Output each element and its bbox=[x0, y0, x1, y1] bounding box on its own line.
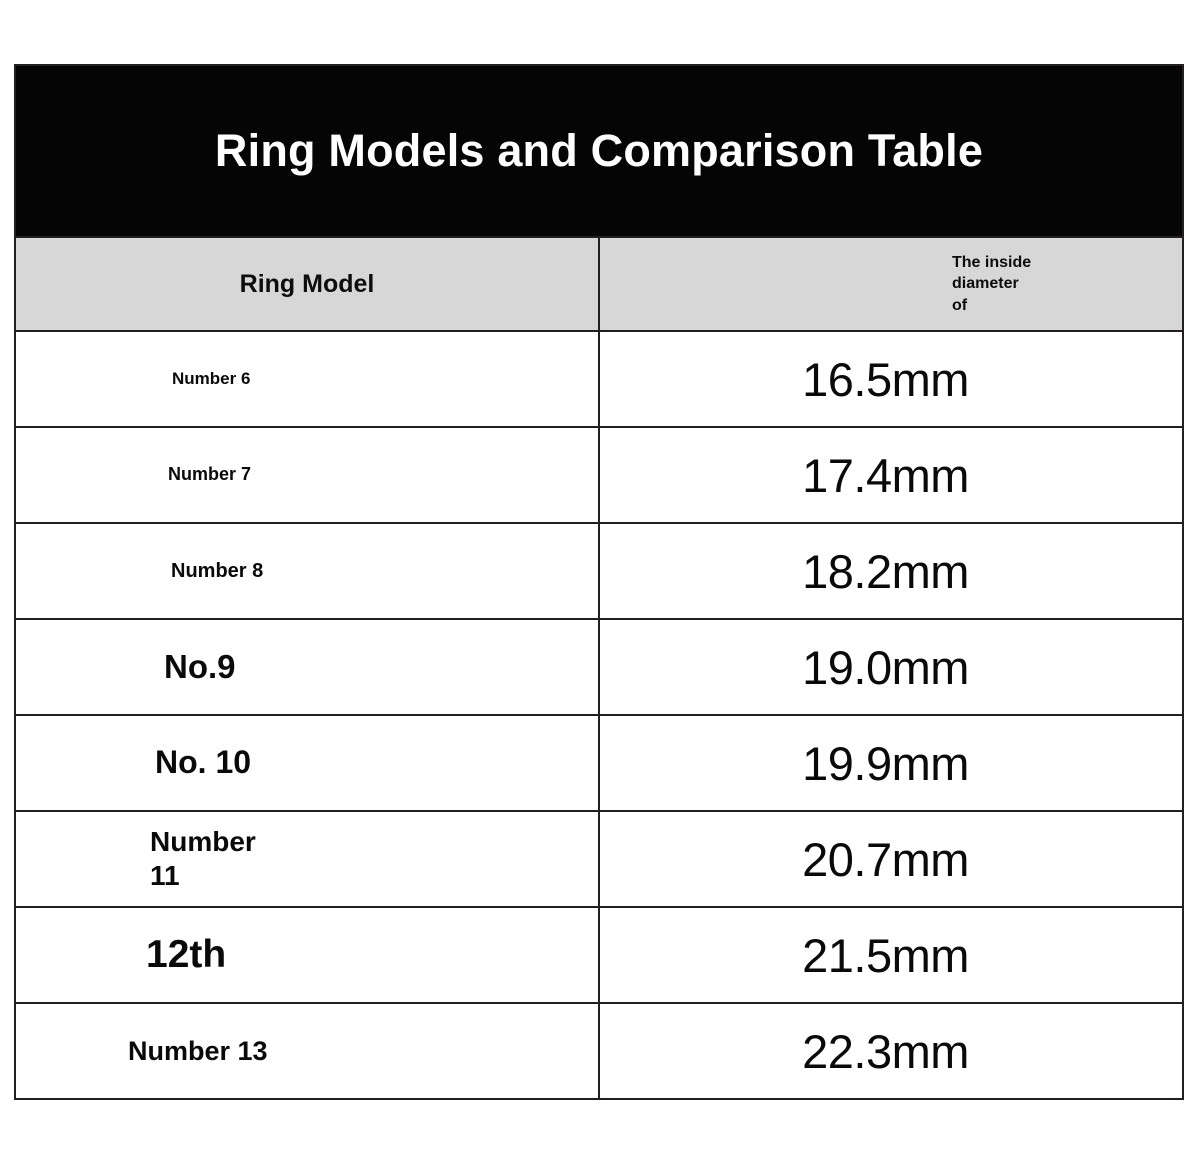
header-label-inside-diameter: The inside diameter of bbox=[952, 252, 1031, 315]
cell-inside-diameter: 20.7mm bbox=[599, 811, 1183, 907]
ring-model-label: No.9 bbox=[164, 647, 236, 687]
cell-inside-diameter: 17.4mm bbox=[599, 427, 1183, 523]
inside-diameter-value: 22.3mm bbox=[802, 1024, 969, 1079]
header-cell-ring-model: Ring Model bbox=[15, 237, 599, 331]
ring-model-label: Number 8 bbox=[171, 559, 271, 583]
inside-diameter-value: 19.0mm bbox=[802, 640, 969, 695]
title-cell: Ring Models and Comparison Table bbox=[15, 65, 1183, 237]
inside-diameter-value: 16.5mm bbox=[802, 352, 969, 407]
page-title: Ring Models and Comparison Table bbox=[16, 126, 1182, 176]
header-label-line-3: of bbox=[952, 297, 967, 314]
table-row: Number 8 18.2mm bbox=[15, 523, 1183, 619]
inside-diameter-value: 21.5mm bbox=[802, 928, 969, 983]
table-row: Number 7 17.4mm bbox=[15, 427, 1183, 523]
cell-inside-diameter: 19.9mm bbox=[599, 715, 1183, 811]
cell-ring-model: Number 11 bbox=[15, 811, 599, 907]
header-label-line-1: The inside bbox=[952, 254, 1031, 271]
cell-inside-diameter: 22.3mm bbox=[599, 1003, 1183, 1099]
ring-model-label: Number 6 bbox=[172, 369, 250, 390]
table-header-row: Ring Model The inside diameter of bbox=[15, 237, 1183, 331]
header-cell-inside-diameter: The inside diameter of bbox=[599, 237, 1183, 331]
table-title-row: Ring Models and Comparison Table bbox=[15, 65, 1183, 237]
cell-inside-diameter: 16.5mm bbox=[599, 331, 1183, 427]
inside-diameter-value: 19.9mm bbox=[802, 736, 969, 791]
cell-ring-model: Number 8 bbox=[15, 523, 599, 619]
cell-ring-model: 12th bbox=[15, 907, 599, 1003]
cell-ring-model: Number 6 bbox=[15, 331, 599, 427]
inside-diameter-value: 17.4mm bbox=[802, 448, 969, 503]
header-label-line-2: diameter bbox=[952, 275, 1019, 292]
cell-inside-diameter: 19.0mm bbox=[599, 619, 1183, 715]
cell-ring-model: Number 13 bbox=[15, 1003, 599, 1099]
table-row: Number 13 22.3mm bbox=[15, 1003, 1183, 1099]
cell-inside-diameter: 18.2mm bbox=[599, 523, 1183, 619]
inside-diameter-value: 20.7mm bbox=[802, 832, 969, 887]
ring-model-label: Number 11 bbox=[150, 825, 270, 893]
table-row: 12th 21.5mm bbox=[15, 907, 1183, 1003]
inside-diameter-value: 18.2mm bbox=[802, 544, 969, 599]
header-label-ring-model: Ring Model bbox=[240, 270, 375, 298]
ring-model-label: Number 13 bbox=[128, 1035, 268, 1068]
ring-model-label: 12th bbox=[146, 931, 226, 979]
table-row: Number 6 16.5mm bbox=[15, 331, 1183, 427]
table-row: No. 10 19.9mm bbox=[15, 715, 1183, 811]
table-row: No.9 19.0mm bbox=[15, 619, 1183, 715]
cell-ring-model: No. 10 bbox=[15, 715, 599, 811]
cell-ring-model: Number 7 bbox=[15, 427, 599, 523]
ring-model-label: No. 10 bbox=[155, 743, 251, 782]
cell-ring-model: No.9 bbox=[15, 619, 599, 715]
table-row: Number 11 20.7mm bbox=[15, 811, 1183, 907]
ring-size-comparison-table: Ring Models and Comparison Table Ring Mo… bbox=[14, 64, 1184, 1100]
ring-model-label: Number 7 bbox=[168, 464, 251, 486]
cell-inside-diameter: 21.5mm bbox=[599, 907, 1183, 1003]
